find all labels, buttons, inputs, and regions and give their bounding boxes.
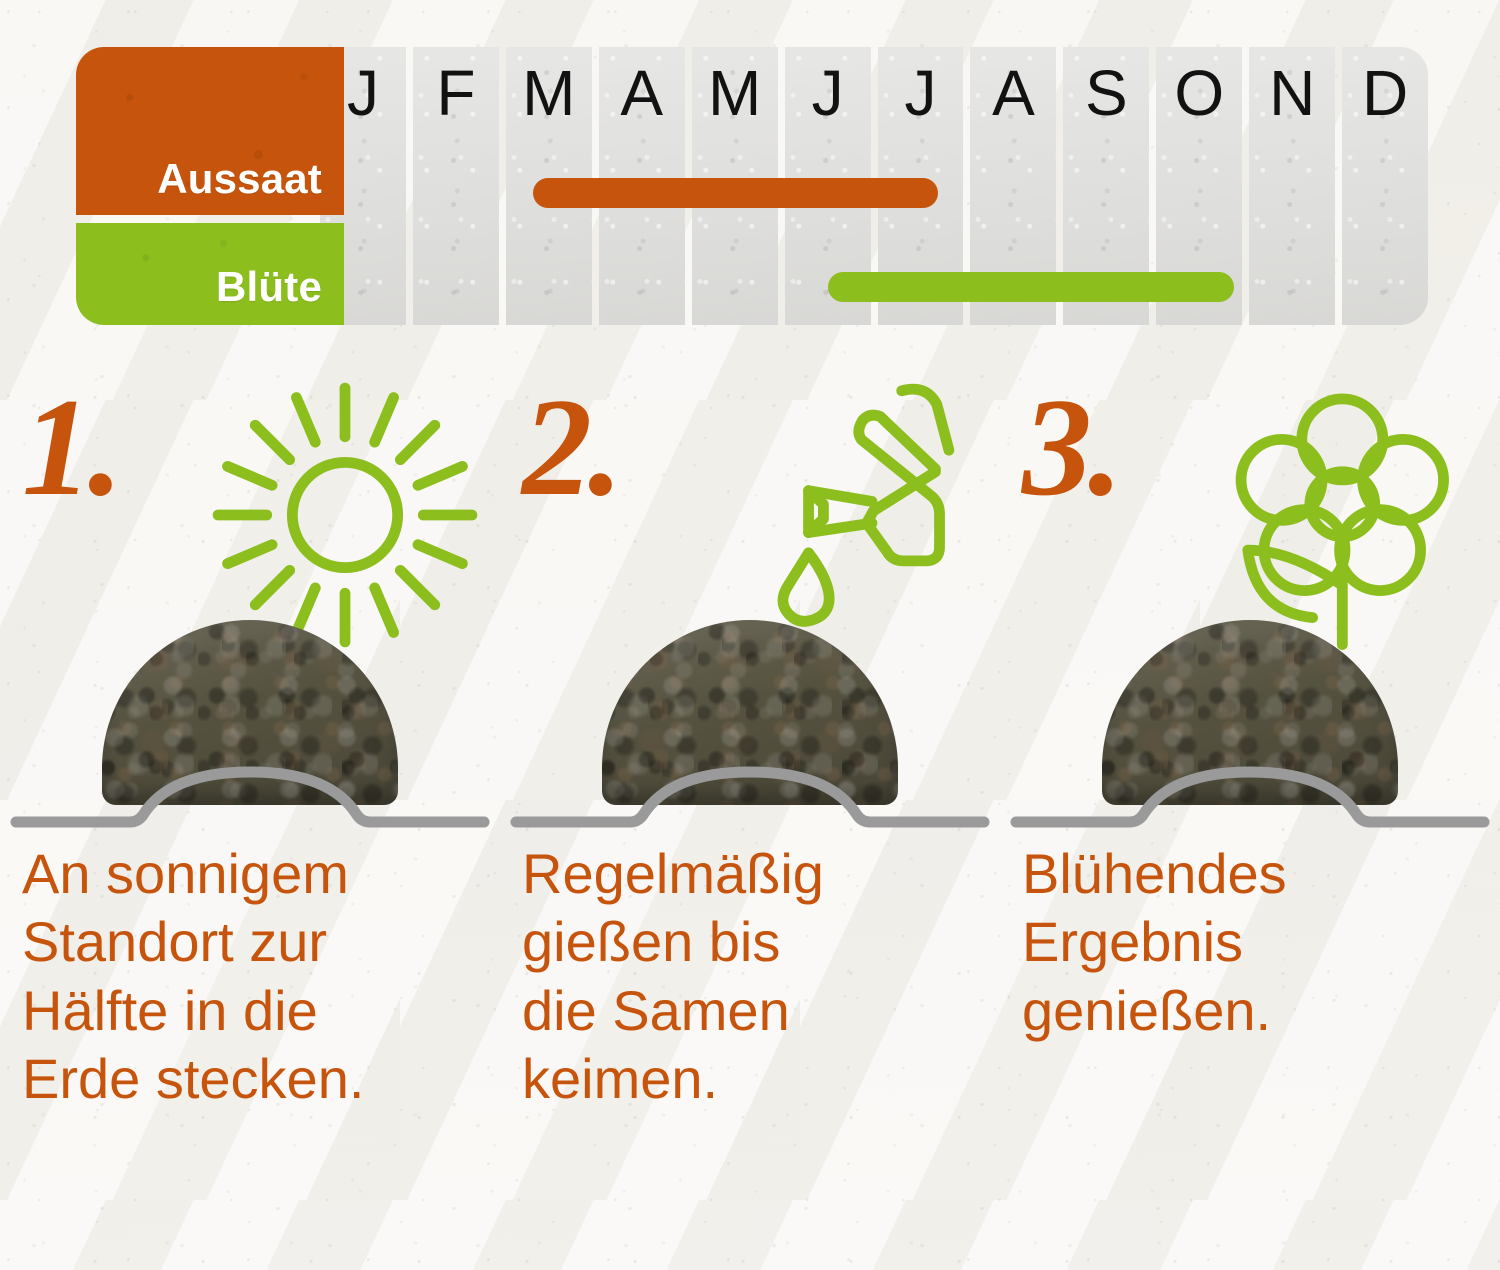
month-label-3: M [506,61,592,125]
step-3-line-2: Ergebnis [1022,908,1470,976]
calendar-legend: Aussaat Blüte [76,47,344,325]
month-cell-12: D [1342,47,1428,325]
step-1-text: An sonnigem Standort zur Hälfte in die E… [0,840,500,1113]
month-label-2: F [413,61,499,125]
step-1-line-4: Erde stecken. [22,1045,470,1113]
step-2-line-4: keimen. [522,1045,970,1113]
step-2: 2. [500,370,1000,1113]
month-label-10: O [1156,61,1242,125]
step-3-number: 3. [1022,378,1119,518]
legend-bloom-label: Blüte [216,263,322,311]
month-cell-2: F [413,47,499,325]
step-2-line-1: Regelmäßig [522,840,970,908]
flower-icon [1210,380,1480,650]
step-2-ground [510,630,990,840]
step-2-illustration: 2. [500,370,1000,840]
legend-sowing-label: Aussaat [157,155,322,203]
step-2-line-3: die Samen [522,977,970,1045]
step-1-line-2: Standort zur [22,908,470,976]
step-1-number: 1. [22,378,119,518]
month-label-8: A [970,61,1056,125]
step-2-line-2: gießen bis [522,908,970,976]
month-label-7: J [878,61,964,125]
ground-line [1010,750,1490,840]
month-label-9: S [1063,61,1149,125]
month-label-4: A [599,61,685,125]
month-label-6: J [785,61,871,125]
sun-icon [210,380,480,650]
month-label-5: M [692,61,778,125]
legend-bloom: Blüte [76,223,344,325]
step-3-text: Blühendes Ergebnis genießen. [1000,840,1500,1045]
infographic-page: Aussaat Blüte JFMAMJJASOND 1. [0,0,1500,1270]
step-1-ground [10,630,490,840]
step-3-ground [1010,630,1490,840]
months-panel: JFMAMJJASOND [320,47,1428,325]
ground-line [510,750,990,840]
month-cell-11: N [1249,47,1335,325]
month-label-11: N [1249,61,1335,125]
month-label-12: D [1342,61,1428,125]
step-1-line-1: An sonnigem [22,840,470,908]
step-3-line-3: genießen. [1022,977,1470,1045]
step-1-line-3: Hälfte in die [22,977,470,1045]
watering-can-icon [710,380,980,650]
sowing-bloom-calendar: Aussaat Blüte JFMAMJJASOND [76,47,1428,325]
timeline-bar-bloom [828,272,1234,302]
step-1-illustration: 1. [0,370,500,840]
step-3: 3. [1000,370,1500,1113]
ground-line [10,750,490,840]
step-1: 1. [0,370,500,1113]
step-2-text: Regelmäßig gießen bis die Samen keimen. [500,840,1000,1113]
step-2-number: 2. [522,378,619,518]
legend-sowing: Aussaat [76,47,344,215]
step-3-illustration: 3. [1000,370,1500,840]
step-3-line-1: Blühendes [1022,840,1470,908]
timeline-bar-sowing [533,178,937,208]
steps-row: 1. [0,370,1500,1113]
